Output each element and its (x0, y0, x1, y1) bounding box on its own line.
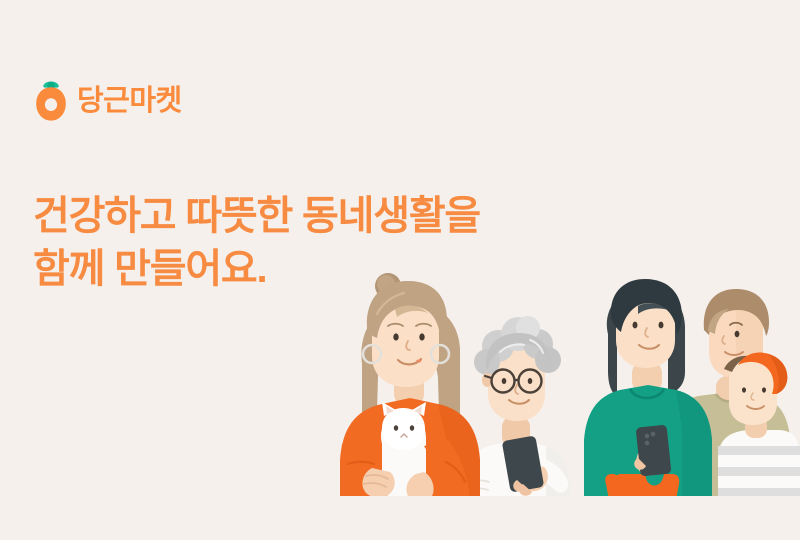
landing-page: 당근마켓 건강하고 따뜻한 동네생활을 함께 만들어요. (0, 0, 800, 540)
brand-logo[interactable]: 당근마켓 (34, 78, 182, 124)
neighborhood-people-illustration (320, 268, 800, 500)
headline-line-1: 건강하고 따뜻한 동네생활을 (33, 190, 480, 243)
brand-wordmark: 당근마켓 (77, 87, 182, 116)
carrot-icon (34, 80, 68, 122)
